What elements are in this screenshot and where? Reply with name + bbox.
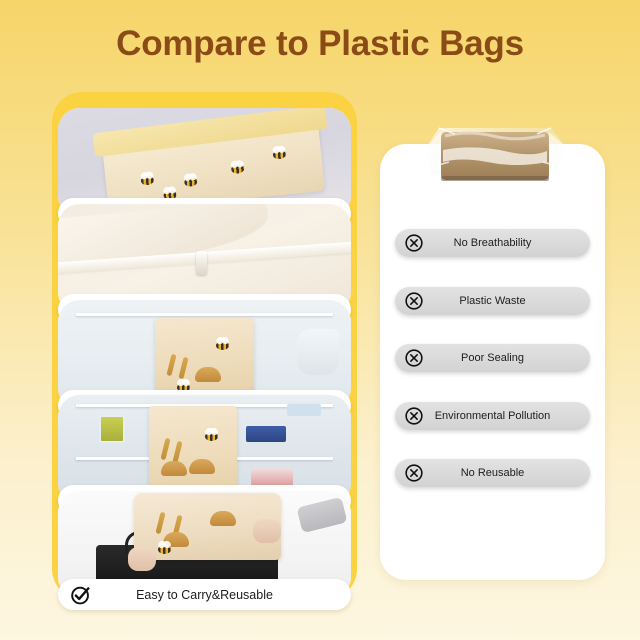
page-title: Compare to Plastic Bags — [0, 24, 640, 64]
x-circle-icon — [404, 406, 424, 426]
x-circle-icon — [404, 463, 424, 483]
feature-label-pill[interactable]: Easy to Carry&Reusable — [58, 579, 351, 610]
beeswax-feature-list: Beewax Lined--Breathable Coating Zipper … — [52, 92, 357, 599]
drawback-label-text: Environmental Pollution — [395, 410, 590, 422]
x-circle-icon — [404, 291, 424, 311]
drawback-item[interactable]: Plastic Waste — [395, 287, 590, 315]
comparison-infographic: Compare to Plastic Bags — [0, 0, 640, 640]
plastic-drawback-list: No Breathability Plastic Waste Poor Seal… — [380, 144, 605, 580]
drawback-label-text: Plastic Waste — [395, 295, 590, 307]
feature-label-text: Easy to Carry&Reusable — [58, 588, 351, 602]
check-circle-icon — [70, 584, 92, 606]
drawback-item[interactable]: No Breathability — [395, 229, 590, 257]
drawback-label-text: No Reusable — [395, 467, 590, 479]
drawback-label-text: Poor Sealing — [395, 352, 590, 364]
drawback-item[interactable]: Poor Sealing — [395, 344, 590, 372]
x-circle-icon — [404, 233, 424, 253]
x-circle-icon — [404, 348, 424, 368]
drawback-item[interactable]: Environmental Pollution — [395, 402, 590, 430]
drawback-item[interactable]: No Reusable — [395, 459, 590, 487]
drawback-label-text: No Breathability — [395, 237, 590, 249]
